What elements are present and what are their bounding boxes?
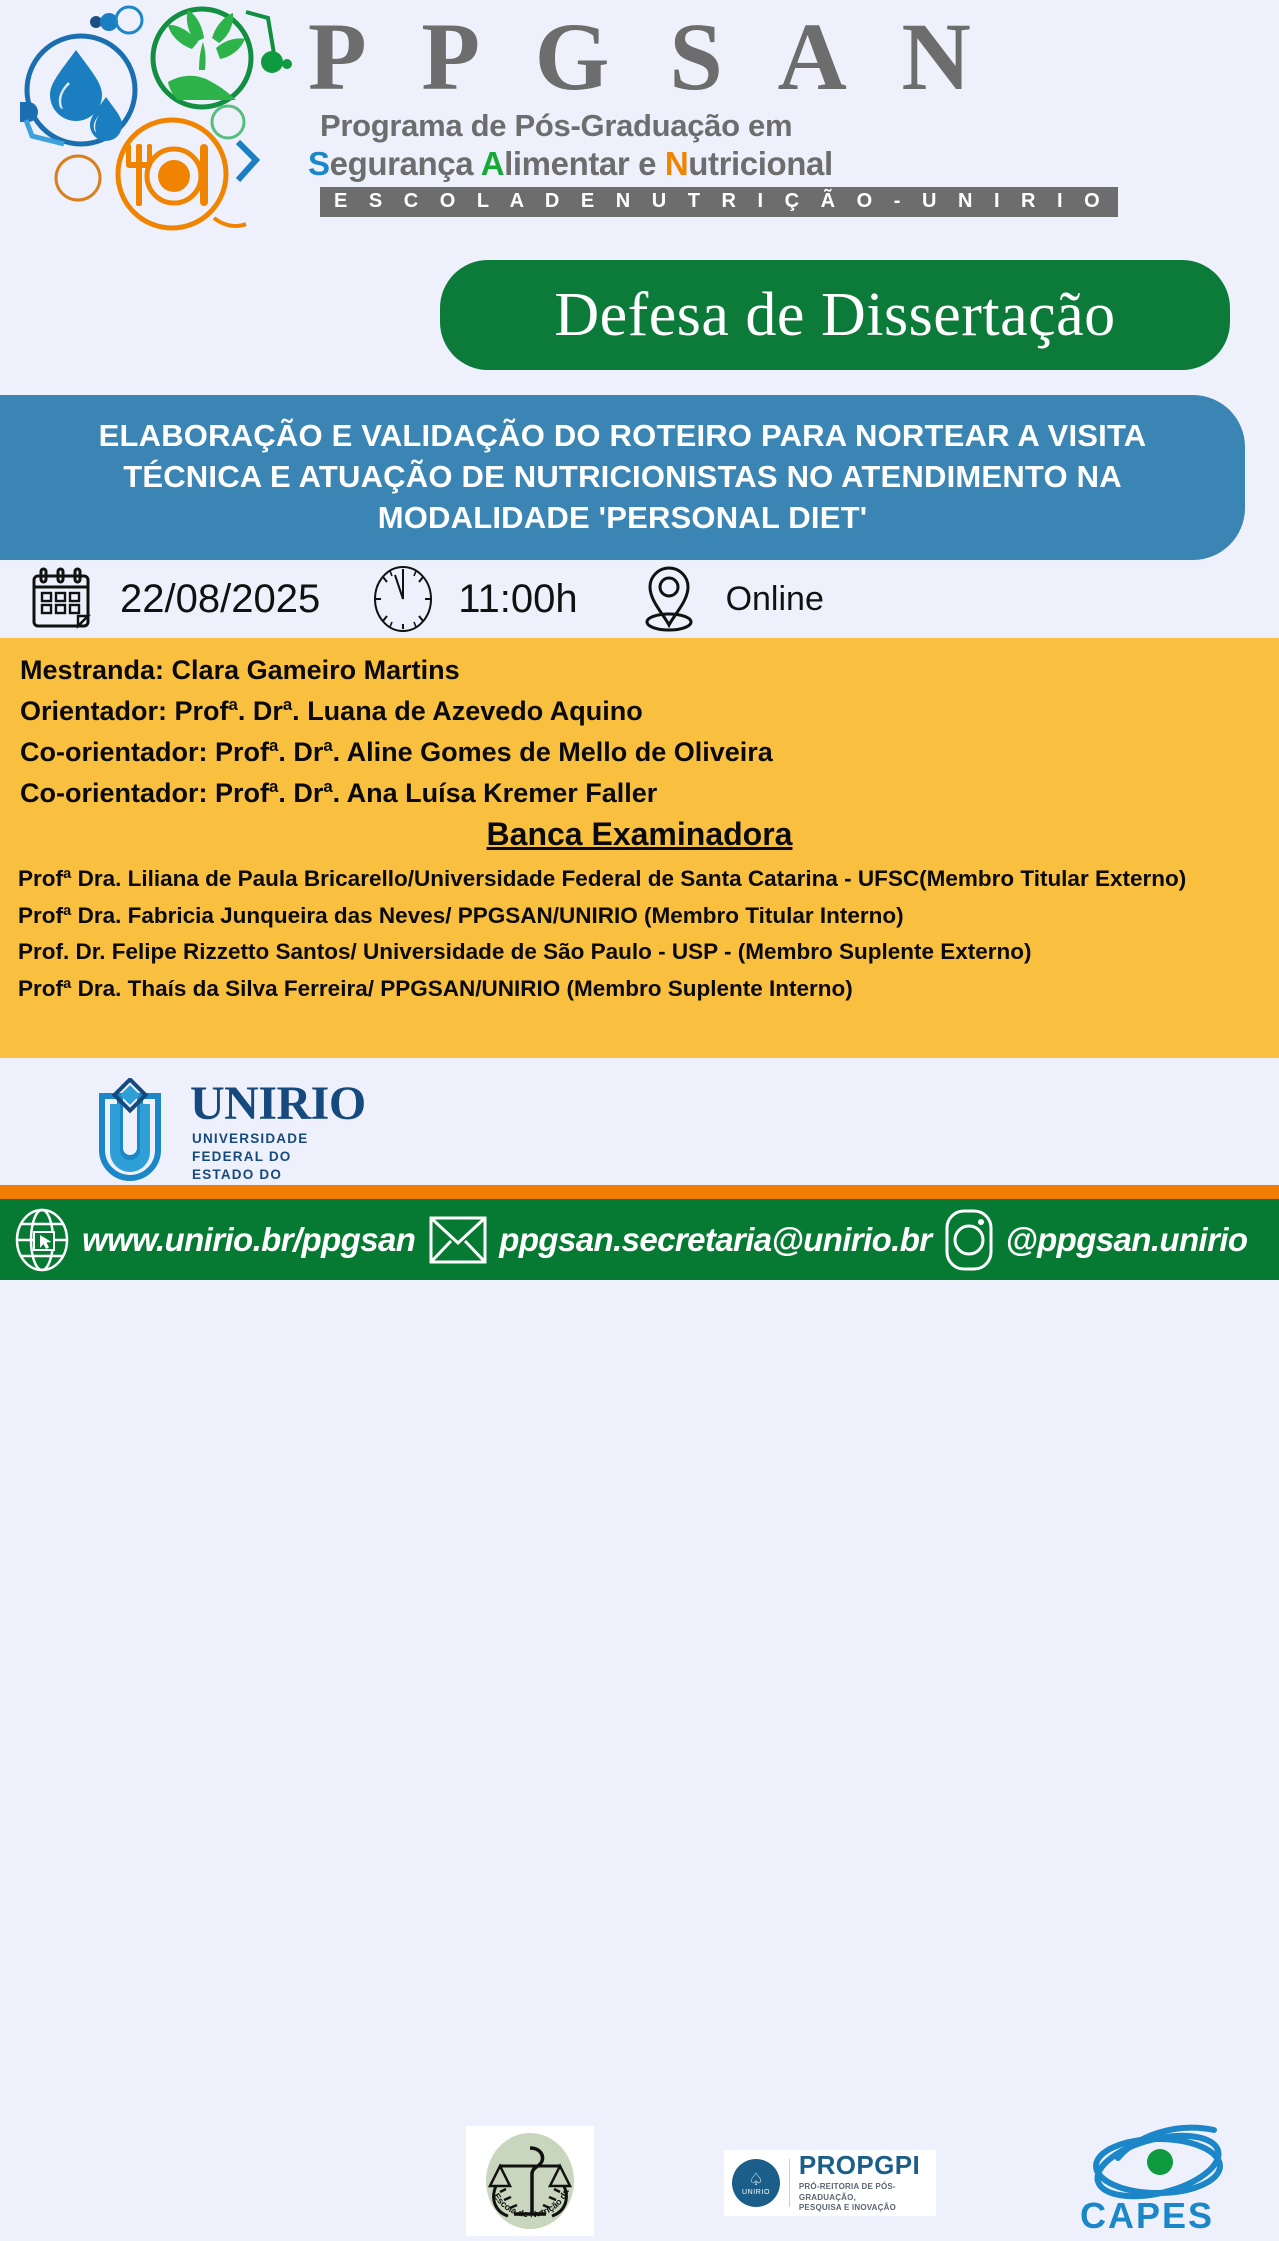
- letter-a: A: [481, 145, 504, 182]
- propgpi-subtitle-line-1: PRÓ-REITORIA DE PÓS-GRADUAÇÃO,: [799, 2182, 936, 2204]
- unirio-subtitle-line-1: UNIVERSIDADE FEDERAL DO: [192, 1130, 308, 1166]
- coadvisor-2-role: Co-orientador:: [20, 778, 207, 808]
- orange-divider: [0, 1185, 1279, 1199]
- letter-s: S: [308, 145, 330, 182]
- letter-n: N: [665, 145, 688, 182]
- advisor-name: Luana de Azevedo Aquino: [307, 696, 643, 726]
- word-alimentar: limentar e: [504, 145, 665, 182]
- sponsor-logo-strip: UNIRIO UNIVERSIDADE FEDERAL DO ESTADO DO…: [0, 1058, 1279, 1185]
- advisor-role: Orientador:: [20, 696, 167, 726]
- thesis-title: ELABORAÇÃO E VALIDAÇÃO DO ROTEIRO PARA N…: [33, 416, 1213, 539]
- word-nutricional: utricional: [688, 145, 833, 182]
- program-line-1: Programa de Pós-Graduação em: [320, 108, 860, 144]
- email-text: ppgsan.secretaria@unirio.br: [499, 1221, 931, 1259]
- event-time: 11:00h: [458, 577, 577, 622]
- propgpi-divider: [789, 2159, 790, 2207]
- coadvisor-1-name: Aline Gomes de Mello de Oliveira: [347, 737, 773, 767]
- ppgsan-emblem-icon: [6, 2, 298, 242]
- coadvisor-1-line: Co-orientador: Profa. Dra. Aline Gomes d…: [20, 732, 1265, 773]
- committee-member: Profª Dra. Liliana de Paula Bricarello/U…: [18, 863, 1265, 896]
- capes-mark-icon: [1078, 2120, 1238, 2204]
- propgpi-text-block: PROPGPI PRÓ-REITORIA DE PÓS-GRADUAÇÃO, P…: [799, 2152, 936, 2214]
- email-group[interactable]: ppgsan.secretaria@unirio.br: [427, 1213, 931, 1267]
- event-date: 22/08/2025: [120, 577, 320, 622]
- escola-nutricao-seal-icon: Escola de Nutrição da Unirio: [466, 2126, 594, 2236]
- school-bar-label: E S C O L A D E N U T R I Ç Ã O - U N I …: [320, 187, 1118, 217]
- committee-heading: Banca Examinadora: [14, 816, 1265, 853]
- propgpi-logo: ♤ UNIRIO PROPGPI PRÓ-REITORIA DE PÓS-GRA…: [724, 2150, 936, 2216]
- instagram-icon: [942, 1207, 996, 1273]
- poster-header: P P G S A N Programa de Pós-Graduação em…: [0, 0, 1279, 250]
- event-meta-row: 22/08/2025 11:00h Online: [0, 560, 1279, 638]
- globe-icon: [12, 1207, 72, 1273]
- unirio-glyph-icon: ♤: [748, 2171, 763, 2188]
- map-pin-icon: [638, 562, 700, 636]
- coadvisor-2-line: Co-orientador: Profa. Dra. Ana Luísa Kre…: [20, 773, 1265, 814]
- event-date-group: 22/08/2025: [24, 562, 320, 636]
- contact-footer: www.unirio.br/ppgsan ppgsan.secretaria@u…: [0, 1199, 1279, 1280]
- website-text: www.unirio.br/ppgsan: [82, 1221, 415, 1259]
- word-seguranca: egurança: [330, 145, 481, 182]
- clock-icon: [370, 563, 436, 635]
- event-type-label: Defesa de Dissertação: [554, 280, 1115, 351]
- advisor-line: Orientador: Profa. Dra. Luana de Azevedo…: [20, 691, 1265, 732]
- instagram-text: @ppgsan.unirio: [1006, 1221, 1248, 1259]
- event-location: Online: [726, 580, 824, 619]
- student-name: Clara Gameiro Martins: [172, 655, 460, 685]
- thesis-title-panel: ELABORAÇÃO E VALIDAÇÃO DO ROTEIRO PARA N…: [0, 395, 1245, 560]
- committee-member: Profª Dra. Fabricia Junqueira das Neves/…: [18, 900, 1265, 933]
- people-panel: Mestranda: Clara Gameiro Martins Orienta…: [0, 638, 1279, 1058]
- ppgsan-acronym: P P G S A N: [308, 8, 860, 106]
- unirio-mark-icon: [78, 1078, 182, 1182]
- student-role: Mestranda:: [20, 655, 164, 685]
- program-line-2: Segurança Alimentar e Nutricional: [308, 145, 860, 183]
- ppgsan-wordmark: P P G S A N Programa de Pós-Graduação em…: [300, 8, 860, 217]
- website-group[interactable]: www.unirio.br/ppgsan: [12, 1207, 415, 1273]
- event-type-banner: Defesa de Dissertação: [440, 260, 1230, 370]
- calendar-icon: [24, 562, 98, 636]
- propgpi-subtitle-line-2: PESQUISA E INOVAÇÃO: [799, 2203, 936, 2214]
- coadvisor-2-name: Ana Luísa Kremer Faller: [347, 778, 658, 808]
- envelope-icon: [427, 1213, 489, 1267]
- event-time-group: 11:00h: [370, 563, 577, 635]
- propgpi-subtitle: PRÓ-REITORIA DE PÓS-GRADUAÇÃO, PESQUISA …: [799, 2182, 936, 2214]
- instagram-group[interactable]: @ppgsan.unirio: [942, 1207, 1248, 1273]
- escola-nutricao-seal: Escola de Nutrição da Unirio: [466, 2126, 594, 2236]
- unirio-name: UNIRIO: [190, 1080, 366, 1128]
- coadvisor-1-role: Co-orientador:: [20, 737, 207, 767]
- student-line: Mestranda: Clara Gameiro Martins: [20, 650, 1265, 691]
- committee-member: Profª Dra. Thaís da Silva Ferreira/ PPGS…: [18, 973, 1265, 1006]
- event-location-group: Online: [638, 562, 824, 636]
- propgpi-badge-label: UNIRIO: [742, 2189, 770, 2196]
- propgpi-badge-icon: ♤ UNIRIO: [732, 2159, 780, 2207]
- propgpi-name: PROPGPI: [799, 2152, 936, 2178]
- capes-name: CAPES: [1080, 2198, 1214, 2234]
- committee-member: Prof. Dr. Felipe Rizzetto Santos/ Univer…: [18, 936, 1265, 969]
